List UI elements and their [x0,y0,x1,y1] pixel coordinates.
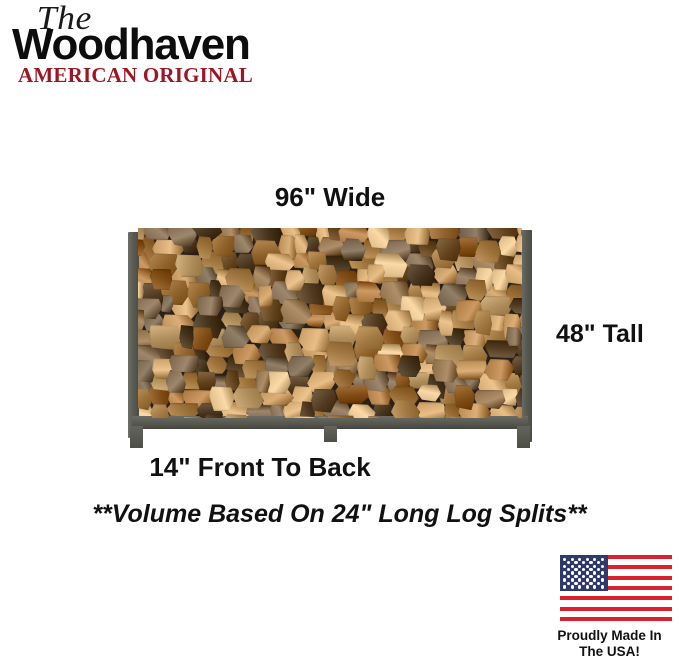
made-in-usa-line1: Proudly Made In [540,628,679,644]
flag-star [589,568,592,571]
log-split [404,228,431,245]
flag-star [571,571,574,574]
flag-star [597,575,600,578]
flag-star [601,578,604,581]
flag-star [597,582,600,585]
flag-star [563,585,566,588]
log-split [138,309,145,333]
log-split [150,404,169,418]
flag-star [563,578,566,581]
flag-canton [560,555,608,591]
flag-star [574,582,577,585]
flag-stripe [560,607,672,611]
log-split [258,285,273,307]
flag-stripe [560,617,672,621]
flag-star [582,582,585,585]
flag-star [563,558,566,561]
log-split [512,356,522,375]
flag-star [586,558,589,561]
flag-star [601,585,604,588]
log-split [498,236,518,257]
flag-star [563,571,566,574]
flag-star [586,578,589,581]
rack-leg-right [517,426,530,448]
flag-star [574,575,577,578]
flag-star [597,561,600,564]
log-split [196,296,223,316]
log-split [233,234,254,253]
rack-leg-center [324,426,337,442]
log-split [505,264,522,285]
flag-star [574,561,577,564]
flag-star [582,561,585,564]
logo-brand-name: Woodhaven [12,22,250,68]
dimension-height-label: 48" Tall [556,320,644,349]
flag-star [589,561,592,564]
dimension-depth-label: 14" Front To Back [0,452,520,483]
firewood-rack-illustration [128,228,532,448]
log-split [475,240,501,263]
flag-star [593,578,596,581]
log-split [335,384,368,403]
american-flag-icon [560,555,672,622]
log-split [246,325,272,344]
flag-star [578,571,581,574]
flag-star [571,585,574,588]
flag-star [567,561,570,564]
flag-star [582,568,585,571]
flag-star [593,565,596,568]
flag-star [597,568,600,571]
flag-star [571,565,574,568]
flag-star [578,578,581,581]
flag-star [589,582,592,585]
log-split [415,402,446,418]
flag-star [601,565,604,568]
flag-star [601,571,604,574]
flag-star [589,575,592,578]
flag-star [563,565,566,568]
flag-star [567,568,570,571]
flag-star [578,585,581,588]
flag-star [593,585,596,588]
log-split [294,234,308,253]
log-split [287,356,315,378]
flag-star [567,575,570,578]
flag-star [586,585,589,588]
log-split [427,228,460,240]
log-split [465,279,487,301]
flag-star [578,558,581,561]
made-in-usa-line2: The USA! [540,644,679,660]
flag-star [601,558,604,561]
brand-logo: The Woodhaven AMERICAN ORIGINAL [6,2,306,86]
flag-star [574,568,577,571]
logo-tagline: AMERICAN ORIGINAL [18,64,253,86]
flag-star [571,558,574,561]
flag-star [593,558,596,561]
flag-star [567,582,570,585]
made-in-usa-text: Proudly Made In The USA! [540,628,679,660]
flag-star [586,565,589,568]
flag-star [578,565,581,568]
volume-note: **Volume Based On 24" Long Log Splits** [0,500,679,529]
stacked-firewood [138,228,522,418]
flag-stripe [560,596,672,600]
log-split [397,355,421,377]
flag-star [586,571,589,574]
log-split [373,354,402,372]
product-image-canvas: The Woodhaven AMERICAN ORIGINAL 96" Wide… [0,0,679,667]
rack-post-right [521,230,532,442]
flag-star [582,575,585,578]
flag-star [593,571,596,574]
rack-leg-left [130,426,143,448]
dimension-width-label: 96" Wide [0,182,660,213]
log-split [326,341,356,367]
log-split [169,355,199,373]
flag-star [571,578,574,581]
